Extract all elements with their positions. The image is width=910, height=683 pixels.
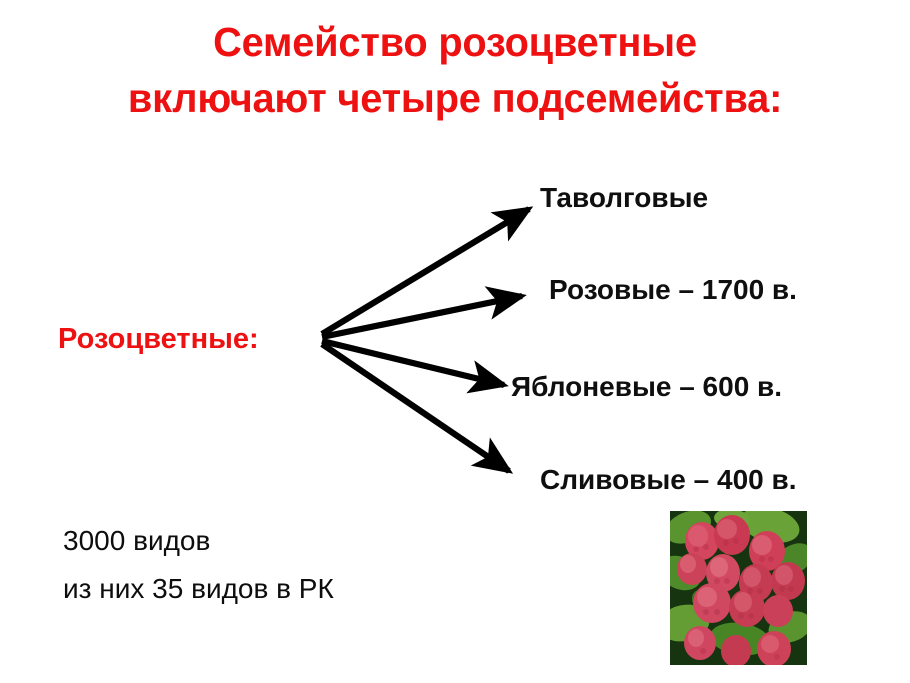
arrow-to-rozovye	[322, 296, 522, 337]
page-title: Семейство розоцветные включают четыре по…	[0, 14, 910, 126]
branch-label-rozovye: Розовые – 1700 в.	[549, 274, 797, 306]
arrow-to-yablonevye	[322, 341, 504, 385]
berry	[677, 553, 707, 585]
slide-canvas: Семейство розоцветные включают четыре по…	[0, 0, 910, 683]
berry	[684, 626, 716, 660]
arrow-to-slivovye	[322, 344, 509, 471]
footnote-line-2: из них 35 видов в РК	[63, 565, 334, 613]
raspberry-photo	[670, 511, 807, 665]
branch-label-slivovye: Сливовые – 400 в.	[540, 464, 796, 496]
page-title-line-1: Семейство розоцветные	[14, 14, 897, 70]
berry	[693, 583, 731, 623]
berry	[763, 595, 793, 627]
branch-label-yablonevye: Яблоневые – 600 в.	[511, 371, 782, 403]
page-title-line-2: включают четыре подсемейства:	[14, 70, 897, 126]
berry	[714, 515, 750, 555]
root-node-label: Розоцветные:	[58, 322, 259, 356]
branch-label-tavolgovye: Таволговые	[540, 182, 708, 214]
berry	[771, 562, 805, 600]
footnote-line-1: 3000 видов	[63, 517, 334, 565]
arrow-to-tavolgovye	[322, 209, 529, 334]
raspberry-photo-illustration	[670, 511, 807, 665]
berry	[729, 589, 765, 627]
footnote-block: 3000 видов из них 35 видов в РК	[63, 517, 334, 613]
